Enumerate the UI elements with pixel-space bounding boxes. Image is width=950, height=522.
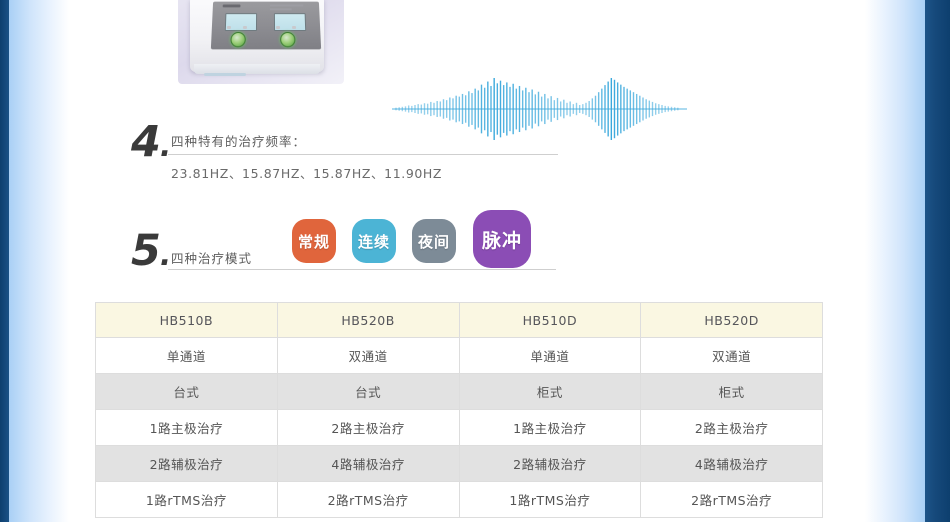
- table-cell: 单通道: [96, 338, 278, 374]
- table-row: 2路辅极治疗 4路辅极治疗 2路辅极治疗 4路辅极治疗: [96, 446, 823, 482]
- mode-pill-pulse[interactable]: 脉冲: [473, 210, 531, 268]
- table-cell: 1路rTMS治疗: [459, 482, 641, 518]
- device-panel-label-2: [270, 8, 292, 10]
- table-row: 单通道 双通道 单通道 双通道: [96, 338, 823, 374]
- section-4-number: 4.: [131, 121, 170, 164]
- page-frame-left-navy-band: [0, 0, 9, 522]
- table-cell: 2路辅极治疗: [96, 446, 278, 482]
- table-cell: 1路rTMS治疗: [96, 482, 278, 518]
- section-4-frequency-list: 23.81HZ、15.87HZ、15.87HZ、11.90HZ: [171, 163, 442, 182]
- section-4-dot: .: [160, 129, 170, 164]
- device-led-right-a: [276, 26, 280, 29]
- table-cell: 柜式: [641, 374, 823, 410]
- table-cell: 2路主极治疗: [641, 410, 823, 446]
- table-cell: 双通道: [641, 338, 823, 374]
- device-led-left-a: [227, 26, 231, 29]
- therapy-frequency-waveform: [392, 76, 687, 142]
- table-cell: 双通道: [277, 338, 459, 374]
- table-cell: 台式: [96, 374, 278, 410]
- device-body: [190, 0, 324, 72]
- device-control-panel: [211, 2, 321, 50]
- table-header-cell: HB510B: [96, 303, 278, 338]
- table-cell: 1路主极治疗: [459, 410, 641, 446]
- table-cell: 2路rTMS治疗: [641, 482, 823, 518]
- table-cell: 2路rTMS治疗: [277, 482, 459, 518]
- device-knob-left: [230, 32, 246, 47]
- page-frame-right-navy-band: [925, 0, 950, 522]
- table-row: 1路主极治疗 2路主极治疗 1路主极治疗 2路主极治疗: [96, 410, 823, 446]
- page-frame-left-gradient: [9, 0, 69, 522]
- table-header-cell: HB520D: [641, 303, 823, 338]
- device-brand-logo: [223, 4, 241, 7]
- table-cell: 柜式: [459, 374, 641, 410]
- mode-pill-routine[interactable]: 常规: [292, 219, 336, 263]
- table-row: 台式 台式 柜式 柜式: [96, 374, 823, 410]
- section-4-numeral: 4: [131, 117, 160, 167]
- section-4-title: 四种特有的治疗频率：: [171, 131, 306, 150]
- table-cell: 台式: [277, 374, 459, 410]
- table-cell: 4路辅极治疗: [641, 446, 823, 482]
- device-led-right-b: [292, 26, 296, 29]
- product-detail-page: 4. 四种特有的治疗频率： 23.81HZ、15.87HZ、15.87HZ、11…: [0, 0, 950, 522]
- mode-pill-continuous[interactable]: 连续: [352, 219, 396, 263]
- table-cell: 1路主极治疗: [96, 410, 278, 446]
- section-5-title: 四种治疗模式: [171, 248, 252, 267]
- table-row: 1路rTMS治疗 2路rTMS治疗 1路rTMS治疗 2路rTMS治疗: [96, 482, 823, 518]
- model-comparison-table: HB510B HB520B HB510D HB520D 单通道 双通道 单通道 …: [95, 302, 823, 518]
- device-knob-right: [280, 32, 295, 47]
- product-device-photo: [178, 0, 344, 84]
- table-cell: 单通道: [459, 338, 641, 374]
- device-panel-label-1: [270, 4, 303, 6]
- table-header-row: HB510B HB520B HB510D HB520D: [96, 303, 823, 338]
- device-led-left-b: [243, 26, 247, 29]
- table-header-cell: HB520B: [277, 303, 459, 338]
- mode-pill-night[interactable]: 夜间: [412, 219, 456, 263]
- table-cell: 4路辅极治疗: [277, 446, 459, 482]
- table-header-cell: HB510D: [459, 303, 641, 338]
- table-cell: 2路辅极治疗: [459, 446, 641, 482]
- section-5-numeral: 5: [131, 226, 160, 276]
- section-4-divider: [168, 154, 558, 155]
- section-5-divider: [168, 269, 556, 270]
- section-5-dot: .: [160, 238, 170, 273]
- device-foot: [204, 73, 246, 76]
- section-5-number: 5.: [131, 230, 170, 273]
- page-frame-right-gradient: [865, 0, 925, 522]
- table-cell: 2路主极治疗: [277, 410, 459, 446]
